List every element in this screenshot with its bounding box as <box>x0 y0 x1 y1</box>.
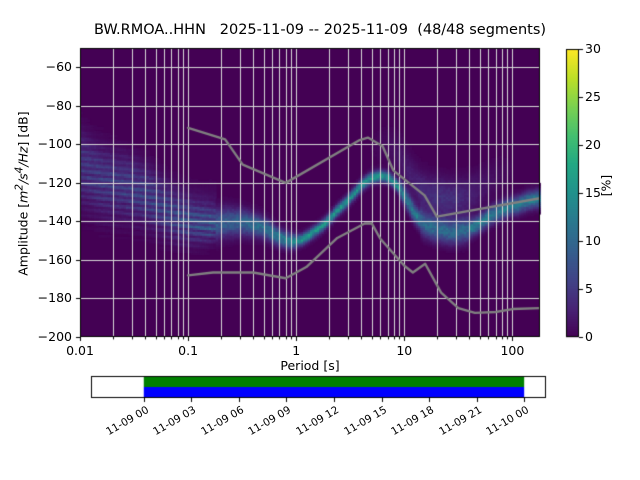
page-title: BW.RMOA..HHN 2025-11-09 -- 2025-11-09 (4… <box>0 22 640 38</box>
y-tick-1: −80 <box>22 98 72 113</box>
x-tick-3: 10 <box>374 343 434 358</box>
x-tick-4: 100 <box>482 343 542 358</box>
colorbar-tick-1: 5 <box>585 281 615 296</box>
colorbar-tick-3: 15 <box>585 185 615 200</box>
timeline-coverage-bar[interactable] <box>91 376 546 398</box>
colorbar-tick-4: 20 <box>585 137 615 152</box>
y-tick-4: −140 <box>22 213 72 228</box>
plot-area[interactable] <box>80 48 540 337</box>
x-axis-label: Period [s] <box>80 358 540 373</box>
x-tick-0: 0.01 <box>50 343 110 358</box>
y-tick-5: −160 <box>22 252 72 267</box>
colorbar-tick-5: 25 <box>585 89 615 104</box>
y-tick-7: −200 <box>22 329 72 344</box>
colorbar-tick-2: 10 <box>585 233 615 248</box>
colorbar[interactable] <box>566 49 579 337</box>
y-tick-3: −120 <box>22 175 72 190</box>
y-tick-0: −60 <box>22 59 72 74</box>
colorbar-tick-0: 0 <box>585 329 615 344</box>
y-tick-2: −100 <box>22 136 72 151</box>
x-tick-1: 0.1 <box>158 343 218 358</box>
x-tick-2: 1 <box>266 343 326 358</box>
y-tick-6: −180 <box>22 290 72 305</box>
colorbar-tick-6: 30 <box>585 41 615 56</box>
